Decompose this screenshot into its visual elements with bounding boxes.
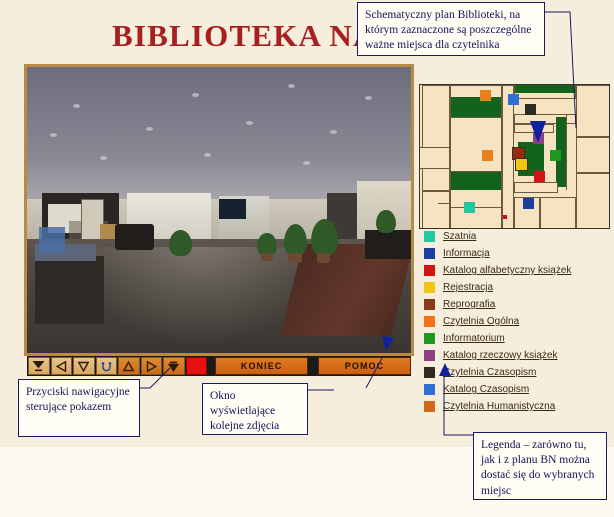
- previous-slide-button[interactable]: [51, 357, 73, 375]
- plan-pointer-arrow-icon: [528, 121, 548, 145]
- legend-item[interactable]: Katalog alfabetyczny książek: [424, 262, 614, 279]
- legend-item[interactable]: Informacja: [424, 245, 614, 262]
- photo-plant-icon: [169, 230, 192, 256]
- marker-orange-mid[interactable]: [482, 150, 493, 161]
- legend-color-swatch: [424, 282, 435, 293]
- stop-button[interactable]: [186, 357, 208, 375]
- annotation-legend: Legenda – zarówno tu, jak i z planu BN m…: [473, 432, 607, 500]
- double-down-triangle-icon: [32, 360, 45, 373]
- legend-item-label: Reprografia: [443, 299, 495, 310]
- marker-yellow-boxed[interactable]: [515, 158, 528, 171]
- ceiling-light-icon: [365, 96, 372, 100]
- plan-room: [419, 147, 450, 169]
- legend-color-swatch: [424, 367, 435, 378]
- photo-plant-icon: [284, 224, 307, 255]
- page-root: BIBLIOTEKA NA: [0, 0, 614, 517]
- annotation-photo-window: Okno wyświetlające kolejne zdjęcia: [202, 383, 308, 435]
- photo-plant-pot: [317, 253, 330, 263]
- ceiling-light-icon: [192, 93, 199, 97]
- legend-color-swatch: [424, 401, 435, 412]
- legend-color-swatch: [424, 316, 435, 327]
- marker-dark-brown[interactable]: [525, 104, 536, 115]
- replay-button[interactable]: [96, 357, 118, 375]
- legend-color-swatch: [424, 350, 435, 361]
- first-slide-button[interactable]: [28, 357, 50, 375]
- legend-item[interactable]: Informatorium: [424, 330, 614, 347]
- legend-color-swatch: [424, 299, 435, 310]
- legend-color-swatch: [424, 384, 435, 395]
- legend-pointer-arrow-icon: [438, 363, 452, 379]
- photo-plant-pot: [288, 253, 301, 263]
- legend-item-label: Informatorium: [443, 333, 505, 344]
- marker-orange-top[interactable]: [480, 90, 491, 101]
- page-title: BIBLIOTEKA NA: [112, 16, 382, 56]
- photo-ceiling: [27, 67, 411, 199]
- photo-dark-furniture: [365, 230, 411, 259]
- legend-item-label: Rejestracja: [443, 282, 493, 293]
- legend-item-label: Informacja: [443, 248, 490, 259]
- plan-wall: [450, 171, 502, 172]
- annotation-navigation: Przyciski nawigacyjne sterujące pokazem: [18, 379, 140, 437]
- plan-room: [576, 173, 610, 229]
- triangle-up-icon: [122, 360, 135, 373]
- legend-item-label: Czytelnia Ogólna: [443, 316, 519, 327]
- legend-color-swatch: [424, 265, 435, 276]
- legend-item-label: Katalog rzeczowy książek: [443, 350, 558, 361]
- koniec-button[interactable]: KONIEC: [215, 357, 308, 375]
- plan-wall: [438, 203, 450, 204]
- photo-blue-panel: [39, 227, 66, 253]
- ceiling-light-icon: [204, 153, 211, 157]
- refresh-arrow-icon: [100, 360, 113, 373]
- plan-room: [576, 137, 610, 173]
- legend-item[interactable]: Szatnia: [424, 228, 614, 245]
- plan-block: [451, 97, 501, 117]
- legend-item[interactable]: Czytelnia Ogólna: [424, 313, 614, 330]
- legend-color-swatch: [424, 333, 435, 344]
- marker-red[interactable]: [534, 171, 545, 182]
- legend-item-label: Katalog alfabetyczny książek: [443, 265, 571, 276]
- window-callout-leader-line: [306, 358, 416, 408]
- photo-plant-pot: [261, 253, 273, 262]
- slide-photo-window[interactable]: [24, 64, 414, 356]
- marker-teal-bottom-left[interactable]: [464, 202, 475, 213]
- photo-monitor: [219, 199, 246, 219]
- photo-plant-icon: [376, 210, 395, 233]
- plan-room: [422, 191, 450, 229]
- legend-item[interactable]: Rejestracja: [424, 279, 614, 296]
- legend-item[interactable]: Katalog rzeczowy książek: [424, 347, 614, 364]
- triangle-left-icon: [55, 360, 68, 373]
- legend-item-label: Szatnia: [443, 231, 476, 242]
- ceiling-light-icon: [100, 156, 107, 160]
- plan-wall: [450, 85, 451, 229]
- plan-wall: [450, 207, 502, 208]
- marker-green[interactable]: [550, 150, 561, 161]
- legend-color-swatch: [424, 231, 435, 242]
- ceiling-light-icon: [50, 133, 57, 137]
- plan-room: [514, 182, 558, 193]
- marker-tiny-red[interactable]: [503, 215, 507, 219]
- plan-room: [540, 197, 576, 229]
- photo-counter: [35, 256, 104, 325]
- triangle-down-icon: [77, 360, 90, 373]
- marker-blue-bottom[interactable]: [523, 198, 534, 209]
- marker-blue-top[interactable]: [508, 94, 519, 105]
- plan-room: [422, 85, 450, 191]
- plan-callout-leader-line: [540, 10, 614, 140]
- plan-wall: [450, 117, 502, 118]
- annotation-plan: Schematyczny plan Biblioteki, na którym …: [357, 2, 545, 56]
- plan-block: [451, 171, 501, 190]
- nav-callout-leader-line: [136, 366, 176, 392]
- photo-pointer-arrow-icon: [381, 335, 395, 353]
- legend-color-swatch: [424, 248, 435, 259]
- photo-sofa: [115, 224, 153, 250]
- down-button[interactable]: [73, 357, 95, 375]
- legend-item[interactable]: Reprografia: [424, 296, 614, 313]
